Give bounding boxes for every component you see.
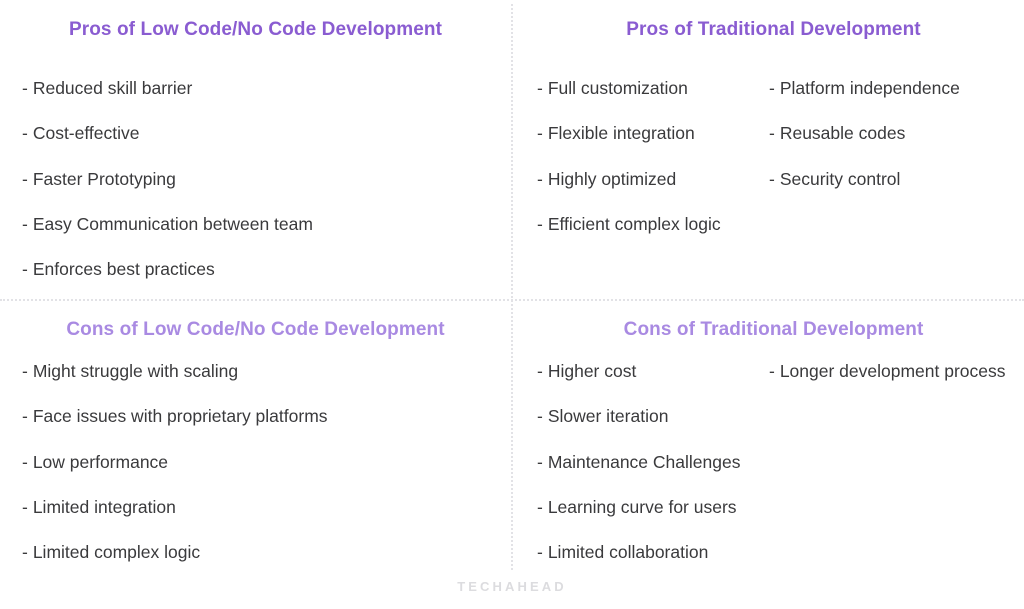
quadrant-cons-traditional: Cons of Traditional Development - Higher… [513,301,1024,609]
cons-low-code-list: - Might struggle with scaling - Face iss… [22,360,328,587]
list-item-label: Reusable codes [780,122,1009,144]
bullet-dash: - [537,213,543,235]
list-column-2: - Longer development process [769,341,1009,405]
quadrant-title-cons-low-code: Cons of Low Code/No Code Development [22,320,489,341]
list-item: - Longer development process [769,360,1009,382]
list-item-label: Maintenance Challenges [548,451,769,473]
watermark-techahead: TECHAHEAD [0,579,1024,594]
list-item: - Highly optimized [537,168,769,190]
list-item: - Security control [769,168,1009,190]
comparison-board: Pros of Low Code/No Code Development - R… [0,0,1024,609]
bullet-dash: - [22,360,28,382]
bullet-dash: - [537,360,543,382]
list-item-label: Face issues with proprietary platforms [33,405,328,427]
list-item: - Limited collaboration [537,541,769,563]
list-item: - Maintenance Challenges [537,451,769,473]
bullet-dash: - [537,496,543,518]
list-item-label: Easy Communication between team [33,213,313,235]
list-item-label: Limited integration [33,496,328,518]
list-item-label: Reduced skill barrier [33,77,313,99]
bullet-dash: - [22,168,28,190]
list-item-label: Longer development process [780,360,1009,382]
list-item: - Faster Prototyping [22,168,313,190]
bullet-dash: - [537,451,543,473]
bullet-dash: - [22,496,28,518]
list-item: - Cost-effective [22,122,313,144]
list-item-label: Full customization [548,77,769,99]
list-item-label: Cost-effective [33,122,313,144]
list-column-2: - Platform independence - Reusable codes… [769,41,1009,213]
bullet-dash: - [22,541,28,563]
list-column-1: - Might struggle with scaling - Face iss… [22,341,328,587]
list-item-label: Flexible integration [548,122,769,144]
bullet-dash: - [769,168,775,190]
bullet-dash: - [537,541,543,563]
cons-traditional-list-left: - Higher cost - Slower iteration - Maint… [537,360,769,587]
list-item: - Might struggle with scaling [22,360,328,382]
list-column-1: - Full customization - Flexible integrat… [537,41,769,259]
pros-traditional-list-left: - Full customization - Flexible integrat… [537,77,769,259]
quadrant-title-pros-low-code: Pros of Low Code/No Code Development [22,20,489,41]
list-item: - Flexible integration [537,122,769,144]
list-item-label: Security control [780,168,1009,190]
bullet-dash: - [22,405,28,427]
bullet-dash: - [22,122,28,144]
bullet-dash: - [537,168,543,190]
bullet-dash: - [769,360,775,382]
list-item-label: Platform independence [780,77,1009,99]
pros-traditional-list-right: - Platform independence - Reusable codes… [769,77,1009,213]
bullet-dash: - [537,122,543,144]
bullet-dash: - [537,77,543,99]
list-item: - Higher cost [537,360,769,382]
list-item-label: Efficient complex logic [548,213,769,235]
quadrant-columns: - Higher cost - Slower iteration - Maint… [537,341,1010,587]
list-item: - Efficient complex logic [537,213,769,235]
cons-traditional-list-right: - Longer development process [769,360,1009,405]
quadrant-columns: - Full customization - Flexible integrat… [537,41,1010,259]
list-item-label: Low performance [33,451,328,473]
list-item-label: Limited collaboration [548,541,769,563]
list-item-label: Slower iteration [548,405,769,427]
list-item-label: Might struggle with scaling [33,360,328,382]
list-column-1: - Reduced skill barrier - Cost-effective… [22,41,313,304]
quadrant-cons-low-code: Cons of Low Code/No Code Development - M… [0,301,511,609]
list-item: - Full customization [537,77,769,99]
list-item: - Reduced skill barrier [22,77,313,99]
list-item: - Reusable codes [769,122,1009,144]
bullet-dash: - [22,77,28,99]
bullet-dash: - [22,258,28,280]
quadrant-pros-traditional: Pros of Traditional Development - Full c… [513,0,1024,299]
list-item: - Limited complex logic [22,541,328,563]
list-column-1: - Higher cost - Slower iteration - Maint… [537,341,769,587]
list-item-label: Limited complex logic [33,541,328,563]
bullet-dash: - [537,405,543,427]
list-item-label: Higher cost [548,360,769,382]
quadrant-columns: - Might struggle with scaling - Face iss… [22,341,489,587]
list-item-label: Learning curve for users [548,496,769,518]
list-item: - Limited integration [22,496,328,518]
list-item: - Enforces best practices [22,258,313,280]
quadrant-columns: - Reduced skill barrier - Cost-effective… [22,41,489,304]
list-item: - Face issues with proprietary platforms [22,405,328,427]
list-item: - Slower iteration [537,405,769,427]
bullet-dash: - [22,451,28,473]
bullet-dash: - [769,122,775,144]
list-item: - Low performance [22,451,328,473]
list-item: - Easy Communication between team [22,213,313,235]
bullet-dash: - [769,77,775,99]
list-item: - Learning curve for users [537,496,769,518]
quadrant-pros-low-code: Pros of Low Code/No Code Development - R… [0,0,511,299]
pros-low-code-list: - Reduced skill barrier - Cost-effective… [22,77,313,304]
bullet-dash: - [22,213,28,235]
list-item-label: Faster Prototyping [33,168,313,190]
quadrant-title-pros-traditional: Pros of Traditional Development [537,20,1010,41]
list-item-label: Enforces best practices [33,258,313,280]
list-item-label: Highly optimized [548,168,769,190]
list-item: - Platform independence [769,77,1009,99]
quadrant-title-cons-traditional: Cons of Traditional Development [537,320,1010,341]
